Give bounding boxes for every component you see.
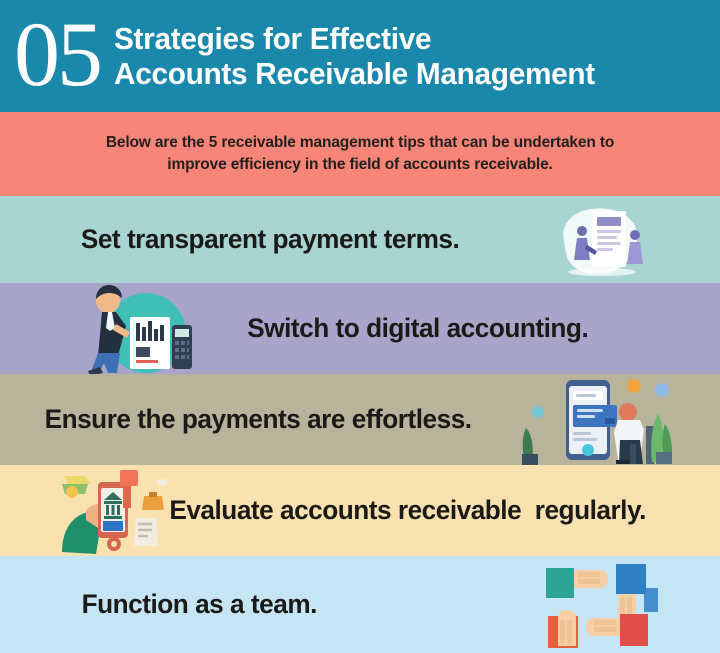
subtitle-line-2: improve efficiency in the field of accou… <box>167 154 552 176</box>
strategy-label-5: Function as a team. <box>82 590 317 620</box>
strategy-band-2: Switch to digital accounting. <box>0 283 720 374</box>
teamwork-hands-illustration <box>532 558 662 652</box>
strategy-band-3: Ensure the payments are effortless. <box>0 374 720 465</box>
header-banner: 05 Strategies for Effective Accounts Rec… <box>0 0 720 112</box>
strategy-label-4: Evaluate accounts receivable regularly. <box>169 496 646 526</box>
contract-document-illustration <box>546 201 658 279</box>
page-title: Strategies for Effective Accounts Receiv… <box>114 22 720 91</box>
accountant-calculator-illustration <box>72 283 212 374</box>
strategy-label-2: Switch to digital accounting. <box>247 314 588 344</box>
subtitle-line-1: Below are the 5 receivable management ti… <box>106 132 614 154</box>
strategy-label-3: Ensure the payments are effortless. <box>45 405 472 435</box>
strategy-band-4: Evaluate accounts receivable regularly. <box>0 465 720 556</box>
header-number: 05 <box>14 12 100 97</box>
strategy-band-1: Set transparent payment terms. <box>0 196 720 283</box>
infographic-poster: 05 Strategies for Effective Accounts Rec… <box>0 0 720 653</box>
title-line-1: Strategies for Effective <box>114 22 696 57</box>
mobile-payment-illustration <box>522 374 682 465</box>
subtitle-band: Below are the 5 receivable management ti… <box>0 112 720 196</box>
strategy-band-5: Function as a team. <box>0 556 720 653</box>
title-line-2: Accounts Receivable Management <box>114 57 696 92</box>
strategy-label-1: Set transparent payment terms. <box>81 225 459 255</box>
